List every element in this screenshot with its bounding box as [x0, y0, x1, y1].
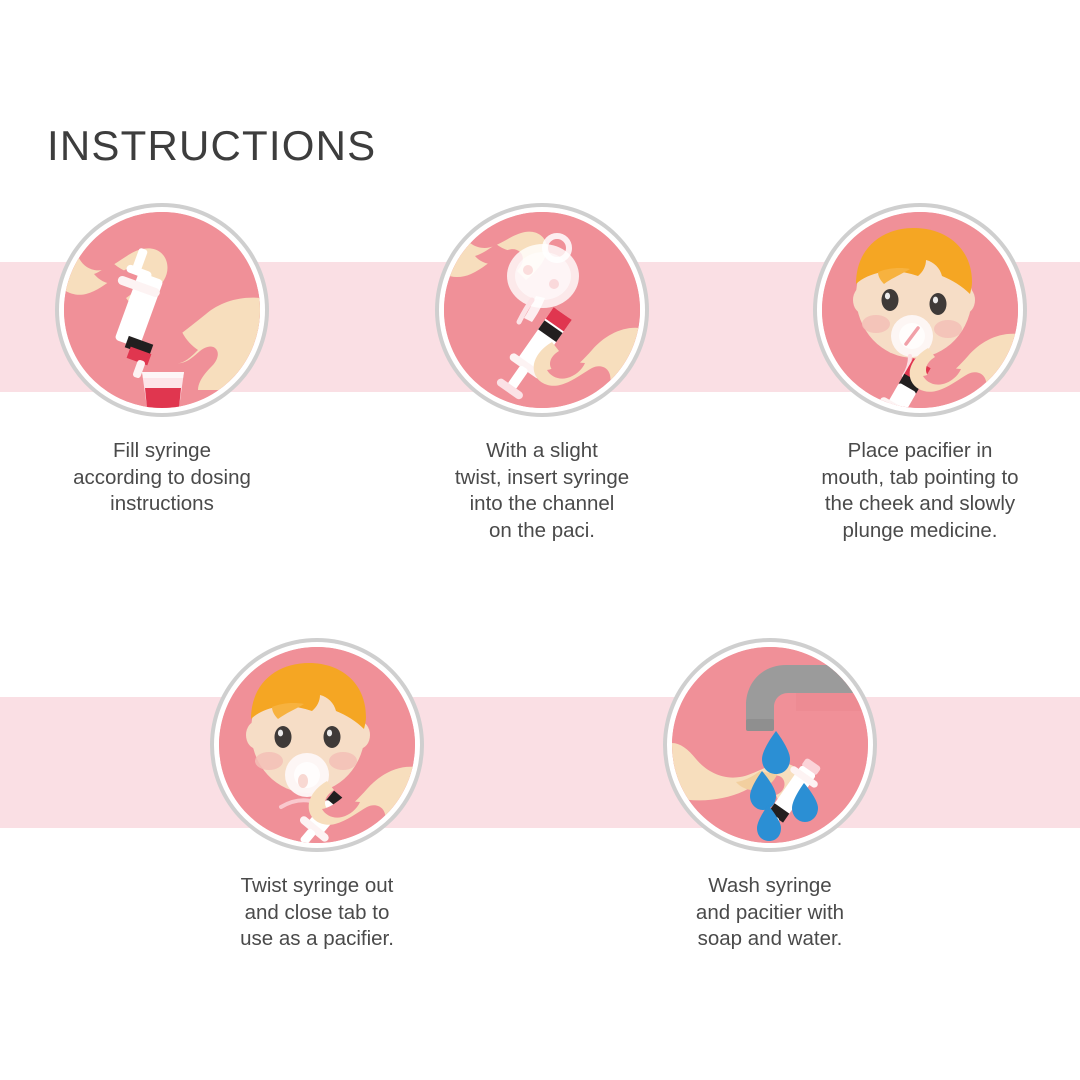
twist-syringe-out-illustration — [219, 647, 415, 843]
wash-syringe-under-faucet-illustration — [672, 647, 868, 843]
caption-line: on the paci. — [392, 518, 692, 545]
caption-line: according to dosing — [12, 465, 312, 492]
caption-line: into the channel — [392, 491, 692, 518]
step-3-circle — [813, 203, 1027, 417]
insert-syringe-into-pacifier-illustration — [444, 212, 640, 408]
caption-line: Fill syringe — [12, 438, 312, 465]
step-5-circle — [663, 638, 877, 852]
caption-line: Twist syringe out — [167, 873, 467, 900]
caption-line: twist, insert syringe — [392, 465, 692, 492]
step-4-circle — [210, 638, 424, 852]
caption-line: plunge medicine. — [770, 518, 1070, 545]
caption-line: With a slight — [392, 438, 692, 465]
step-4: Twist syringe out and close tab to use a… — [167, 638, 467, 953]
step-1-caption: Fill syringe according to dosing instruc… — [12, 438, 312, 518]
caption-line: Place pacifier in — [770, 438, 1070, 465]
step-2-caption: With a slight twist, insert syringe into… — [392, 438, 692, 544]
step-4-caption: Twist syringe out and close tab to use a… — [167, 873, 467, 953]
step-5-caption: Wash syringe and pacitier with soap and … — [620, 873, 920, 953]
caption-line: use as a pacifier. — [167, 926, 467, 953]
caption-line: Wash syringe — [620, 873, 920, 900]
step-2: With a slight twist, insert syringe into… — [392, 203, 692, 544]
caption-line: soap and water. — [620, 926, 920, 953]
step-2-circle — [435, 203, 649, 417]
place-pacifier-in-baby-mouth-illustration — [822, 212, 1018, 408]
instructions-page: INSTRUCTIONS — [0, 0, 1080, 1080]
page-title: INSTRUCTIONS — [47, 122, 376, 170]
step-1: Fill syringe according to dosing instruc… — [12, 203, 312, 518]
step-3: Place pacifier in mouth, tab pointing to… — [770, 203, 1070, 544]
caption-line: mouth, tab pointing to — [770, 465, 1070, 492]
caption-line: instructions — [12, 491, 312, 518]
fill-syringe-from-cup-illustration — [64, 212, 260, 408]
step-3-caption: Place pacifier in mouth, tab pointing to… — [770, 438, 1070, 544]
caption-line: and pacitier with — [620, 900, 920, 927]
caption-line: and close tab to — [167, 900, 467, 927]
caption-line: the cheek and slowly — [770, 491, 1070, 518]
step-1-circle — [55, 203, 269, 417]
step-5: Wash syringe and pacitier with soap and … — [620, 638, 920, 953]
